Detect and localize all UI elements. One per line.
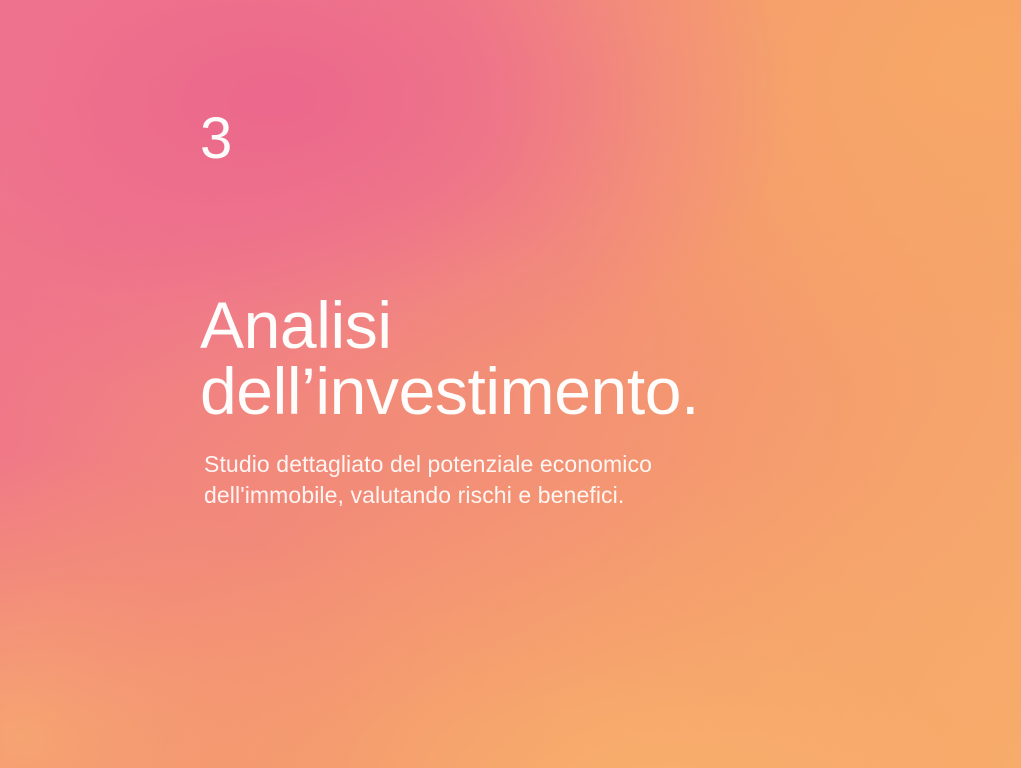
presentation-slide: 3 Analisi dell’investimento. Studio dett… [0, 0, 1021, 768]
slide-subtitle: Studio dettagliato del potenziale econom… [204, 449, 844, 511]
section-number: 3 [200, 110, 233, 168]
slide-content: 3 Analisi dell’investimento. Studio dett… [200, 0, 960, 768]
slide-title: Analisi dell’investimento. [200, 292, 920, 424]
